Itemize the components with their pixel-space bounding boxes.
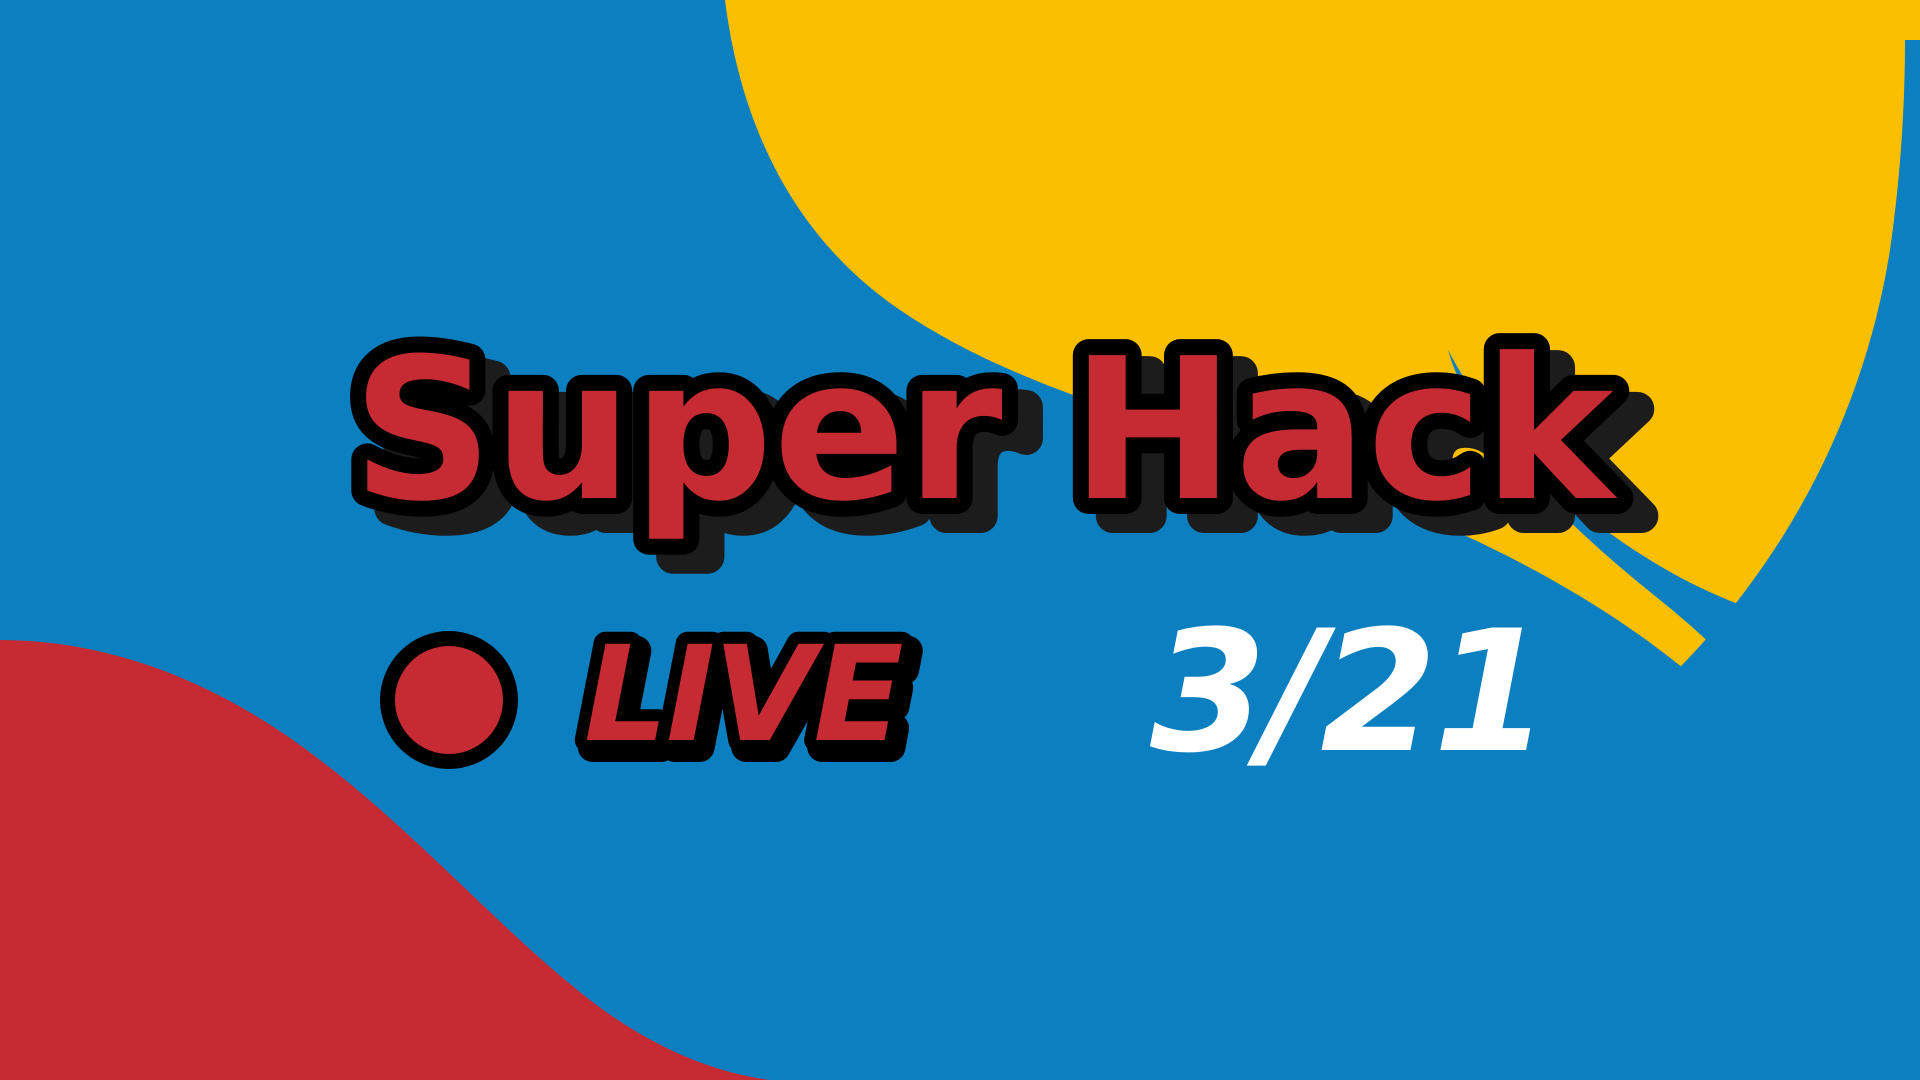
poster-content: .t-main { font-family: "DejaVu Sans", sa… bbox=[0, 0, 1920, 1080]
title-artwork: .t-main { font-family: "DejaVu Sans", sa… bbox=[352, 330, 1602, 570]
circle-icon bbox=[380, 631, 518, 769]
live-label-wrap: .l-main { font-family: "DejaVu Sans", sa… bbox=[580, 620, 910, 780]
event-date-wrap: .d-main { font-family: "DejaVu Sans", sa… bbox=[1150, 600, 1580, 780]
live-artwork: .l-main { font-family: "DejaVu Sans", sa… bbox=[580, 620, 910, 780]
event-date: 3/21 bbox=[1150, 594, 1546, 790]
event-date-artwork: .d-main { font-family: "DejaVu Sans", sa… bbox=[1150, 600, 1580, 780]
live-badge-row: .l-main { font-family: "DejaVu Sans", sa… bbox=[380, 620, 910, 780]
title-text: Super Hack bbox=[352, 317, 1618, 545]
poster-title: .t-main { font-family: "DejaVu Sans", sa… bbox=[352, 330, 1602, 560]
poster-canvas: .t-main { font-family: "DejaVu Sans", sa… bbox=[0, 0, 1920, 1080]
live-label: LIVE bbox=[584, 618, 902, 772]
